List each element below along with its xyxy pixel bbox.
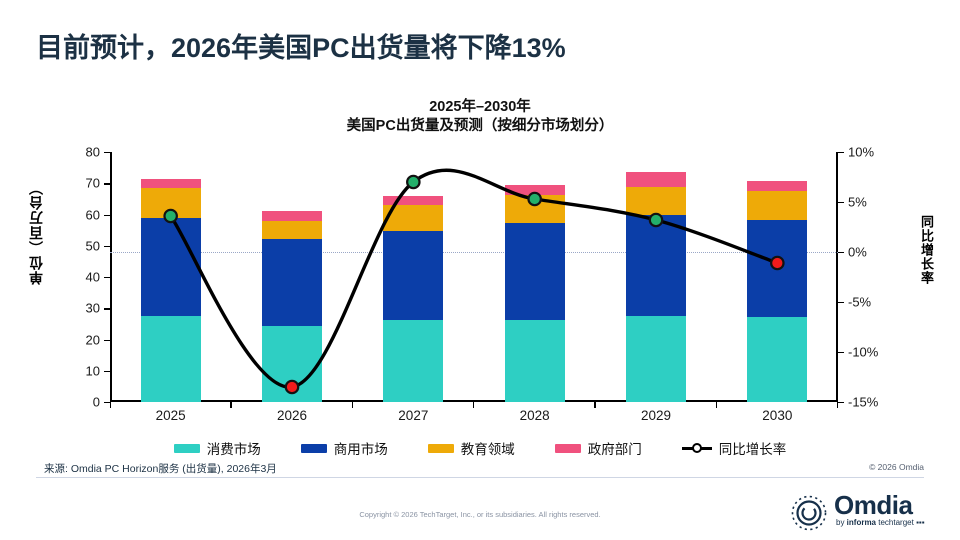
y-label-left: 20 [86,332,100,347]
y-label-left: 30 [86,301,100,316]
growth-rate-marker-2028[interactable] [528,193,540,205]
y-axis-right-caption: 同比增长率 [916,215,936,285]
legend-item-消费市场[interactable]: 消费市场 [174,438,261,458]
y-label-right: 10% [848,145,874,160]
omdia-logo-mark [790,492,830,532]
y-tick-right [838,402,844,403]
footer-divider [36,477,924,478]
chart-legend: 消费市场商用市场教育领域政府部门同比增长率 [110,438,850,458]
x-axis-label-2025: 2025 [111,408,231,423]
y-tick-right [838,352,844,353]
legend-swatch-commercial [301,444,327,453]
chart-plot-area: 80 70 60 50 40 30 20 10 0 10% 5% 0% -5% … [110,152,838,402]
growth-rate-marker-2025[interactable] [164,210,176,222]
omdia-wordmark: Omdia [834,492,912,518]
legend-label: 同比增长率 [719,438,787,458]
x-axis-label-2030: 2030 [717,408,837,423]
tagline-dots: ▪▪▪ [916,518,925,527]
y-tick-right [838,202,844,203]
y-label-left: 40 [86,270,100,285]
x-axis-label-2027: 2027 [353,408,473,423]
y-label-left: 70 [86,176,100,191]
y-tick-right [838,152,844,153]
copyright-notice: © 2026 Omdia [869,462,924,472]
legend-label: 政府部门 [588,438,642,458]
legend-line-marker-growth [682,442,712,454]
omdia-logo: Omdia by informa techtarget ▪▪▪ [790,492,940,534]
source-note: 来源: Omdia PC Horizon服务 (出货量), 2026年3月 [44,461,277,476]
growth-rate-marker-2029[interactable] [650,214,662,226]
growth-rate-line-overlay [110,152,838,402]
chart-title-line-1: 2025年–2030年 [120,98,840,117]
omdia-tagline: by informa techtarget ▪▪▪ [836,518,925,527]
x-axis-label-2026: 2026 [232,408,352,423]
legend-item-政府部门[interactable]: 政府部门 [555,438,642,458]
y-label-left: 80 [86,145,100,160]
growth-rate-marker-2026[interactable] [286,381,298,393]
legend-item-同比增长率[interactable]: 同比增长率 [682,438,787,458]
tagline-prefix: by [836,518,847,527]
growth-rate-marker-2030[interactable] [771,257,783,269]
y-label-right: -5% [848,295,871,310]
legend-swatch-government [555,444,581,453]
legend-swatch-consumer [174,444,200,453]
tagline-rest: techtarget [876,518,914,527]
y-label-left: 0 [93,395,100,410]
x-axis-label-2029: 2029 [596,408,716,423]
x-axis-label-2028: 2028 [475,408,595,423]
legend-item-商用市场[interactable]: 商用市场 [301,438,388,458]
y-tick-right [838,252,844,253]
legend-item-教育领域[interactable]: 教育领域 [428,438,515,458]
y-label-left: 60 [86,207,100,222]
legend-label: 消费市场 [207,438,261,458]
y-label-right: 0% [848,245,867,260]
y-tick-right [838,302,844,303]
legend-line-marker [692,443,702,453]
y-label-left: 50 [86,238,100,253]
y-label-left: 10 [86,363,100,378]
tagline-informa: informa [847,518,876,527]
chart-title-line-2: 美国PC出货量及预测（按细分市场划分） [120,117,840,136]
legend-label: 教育领域 [461,438,515,458]
y-label-right: -10% [848,345,878,360]
y-label-right: 5% [848,195,867,210]
legend-label: 商用市场 [334,438,388,458]
chart-title: 2025年–2030年 美国PC出货量及预测（按细分市场划分） [120,98,840,136]
y-label-right: -15% [848,395,878,410]
growth-rate-line [171,170,778,387]
growth-rate-marker-2027[interactable] [407,176,419,188]
y-axis-left-caption: 单位（百万台） [26,180,46,285]
legend-swatch-education [428,444,454,453]
page-title: 目前预计，2026年美国PC出货量将下降13% [36,26,566,65]
